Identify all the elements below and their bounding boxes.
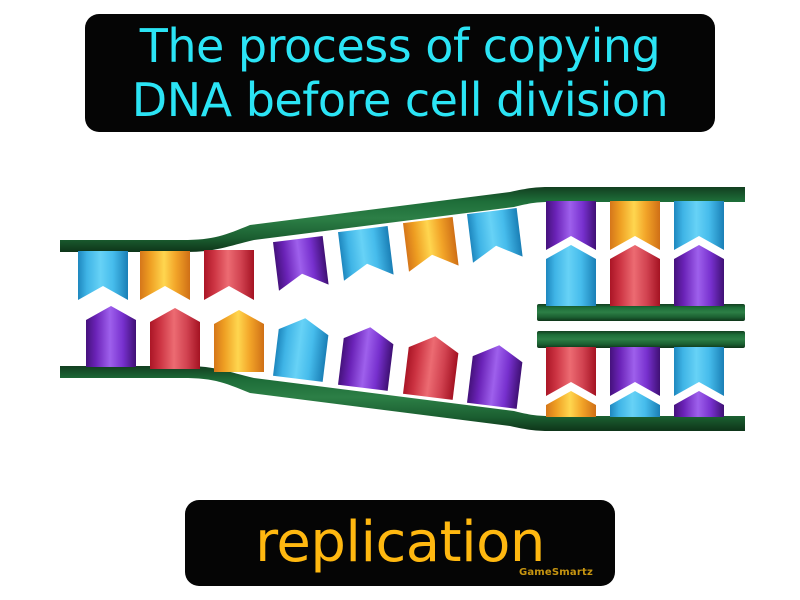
base-free-bottom-purple-1 (338, 324, 395, 391)
base-dup2-top-purple (610, 347, 660, 396)
base-dup2-top-blue (674, 347, 724, 396)
term-banner: replication GameSmartz (185, 500, 615, 586)
base-free-bottom-blue (273, 315, 330, 382)
watermark-label: GameSmartz (519, 567, 593, 578)
base-free-bottom-purple-2 (467, 342, 524, 409)
base-top-orange-1 (140, 251, 190, 300)
backbone-daughter-lower (537, 331, 745, 348)
base-free-top-orange (403, 217, 459, 272)
base-free-top-blue-1 (338, 226, 394, 281)
base-dup2-bottom-orange (546, 391, 596, 417)
base-dup-top-blue (674, 201, 724, 250)
base-dup-bottom-red (610, 245, 660, 306)
base-top-blue-1 (78, 251, 128, 300)
base-bottom-purple-1 (86, 306, 136, 367)
base-pair-group-daughter-upper (546, 201, 724, 306)
definition-line-2: DNA before cell division (132, 73, 668, 127)
base-free-top-purple (273, 236, 329, 291)
dna-replication-svg (0, 145, 800, 475)
base-pair-group-daughter-lower (546, 347, 724, 417)
flashcard-canvas: The process of copying DNA before cell d… (0, 0, 800, 600)
base-top-red-1 (204, 250, 254, 300)
base-dup-top-purple (546, 201, 596, 250)
definition-banner: The process of copying DNA before cell d… (85, 14, 715, 132)
base-free-top-blue-2 (467, 208, 523, 263)
base-bottom-orange-1 (214, 310, 264, 372)
base-dup-top-orange (610, 201, 660, 250)
base-free-bottom-red (403, 333, 460, 400)
base-pair-group-parent-left (78, 250, 264, 372)
base-bottom-red-1 (150, 308, 200, 369)
backbone-daughter-upper (537, 304, 745, 321)
base-dup2-top-red (546, 347, 596, 396)
term-label: replication (255, 513, 545, 573)
dna-replication-diagram (0, 145, 800, 475)
definition-line-1: The process of copying (140, 19, 661, 73)
base-dup2-bottom-blue (610, 391, 660, 417)
base-dup-bottom-blue (546, 245, 596, 306)
base-dup-bottom-purple (674, 245, 724, 306)
base-dup2-bottom-purple (674, 391, 724, 417)
